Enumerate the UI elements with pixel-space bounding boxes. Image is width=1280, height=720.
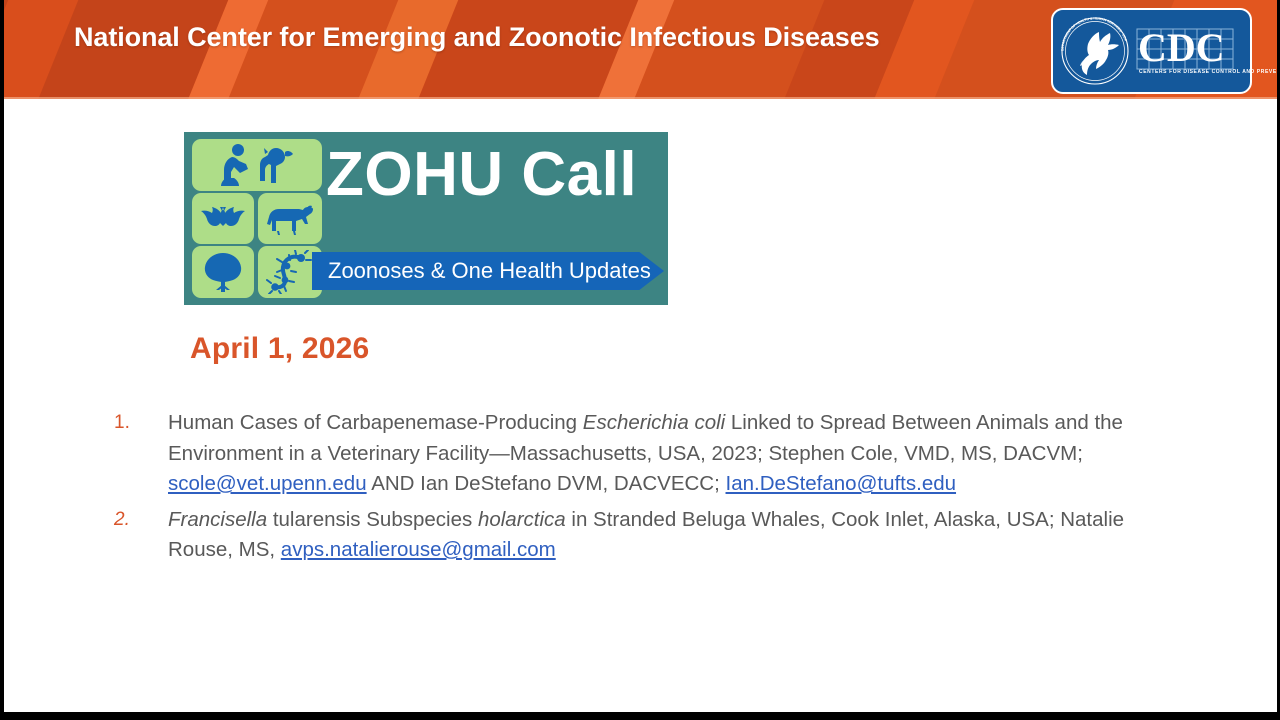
scientific-name: Francisella <box>168 508 267 531</box>
email-link[interactable]: Ian.DeStefano@tufts.edu <box>726 472 957 495</box>
page-title: National Center for Emerging and Zoonoti… <box>74 22 880 53</box>
hhs-seal-icon: DEPARTMENT OF HEALTH & HUMAN SERVICES · … <box>1058 14 1132 88</box>
slide: National Center for Emerging and Zoonoti… <box>0 0 1280 720</box>
letterbox-bottom <box>0 712 1280 720</box>
presentation-date: April 1, 2026 <box>190 332 369 366</box>
zohu-title: ZOHU Call <box>326 142 637 208</box>
email-link[interactable]: avps.natalierouse@gmail.com <box>281 538 556 561</box>
person-with-dog-icon <box>192 139 322 191</box>
header-band: National Center for Emerging and Zoonoti… <box>0 0 1280 99</box>
zohu-tagline: Zoonoses & One Health Updates <box>312 258 651 284</box>
cdc-letters: CDC <box>1136 28 1240 68</box>
cow-icon <box>258 193 322 244</box>
zohu-call-logo: ZOHU Call Zoonoses & One Health Updates <box>184 132 668 305</box>
agenda-item-text: Human Cases of Carbapenemase-Producing E… <box>168 411 1123 495</box>
header-underline <box>0 97 1280 99</box>
zohu-icon-tiles <box>192 139 322 298</box>
scientific-name: holarctica <box>478 508 566 531</box>
cdc-logo[interactable]: DEPARTMENT OF HEALTH & HUMAN SERVICES · … <box>1051 8 1252 94</box>
agenda-item-text: Francisella tularensis Subspecies holarc… <box>168 508 1124 562</box>
zohu-tagline-banner: Zoonoses & One Health Updates <box>312 252 664 290</box>
scientific-name: Escherichia coli <box>583 411 725 434</box>
tree-icon <box>192 246 254 298</box>
agenda-item: 1.Human Cases of Carbapenemase-Producing… <box>112 408 1152 500</box>
agenda-item: 2.Francisella tularensis Subspecies hola… <box>112 505 1152 566</box>
agenda-item-number: 1. <box>114 408 140 439</box>
agenda-text-segment: tularensis Subspecies <box>267 508 478 531</box>
agenda-item-number: 2. <box>114 505 140 536</box>
agenda-text-segment: Human Cases of Carbapenemase-Producing <box>168 411 583 434</box>
bat-icon <box>192 193 254 244</box>
agenda-text-segment: AND Ian DeStefano DVM, DACVECC; <box>367 472 726 495</box>
email-link[interactable]: scole@vet.upenn.edu <box>168 472 367 495</box>
cdc-wordmark: CDC CENTERS FOR DISEASE CONTROL AND PREV… <box>1136 28 1240 75</box>
agenda-list: 1.Human Cases of Carbapenemase-Producing… <box>112 408 1152 571</box>
letterbox-left <box>0 0 4 720</box>
